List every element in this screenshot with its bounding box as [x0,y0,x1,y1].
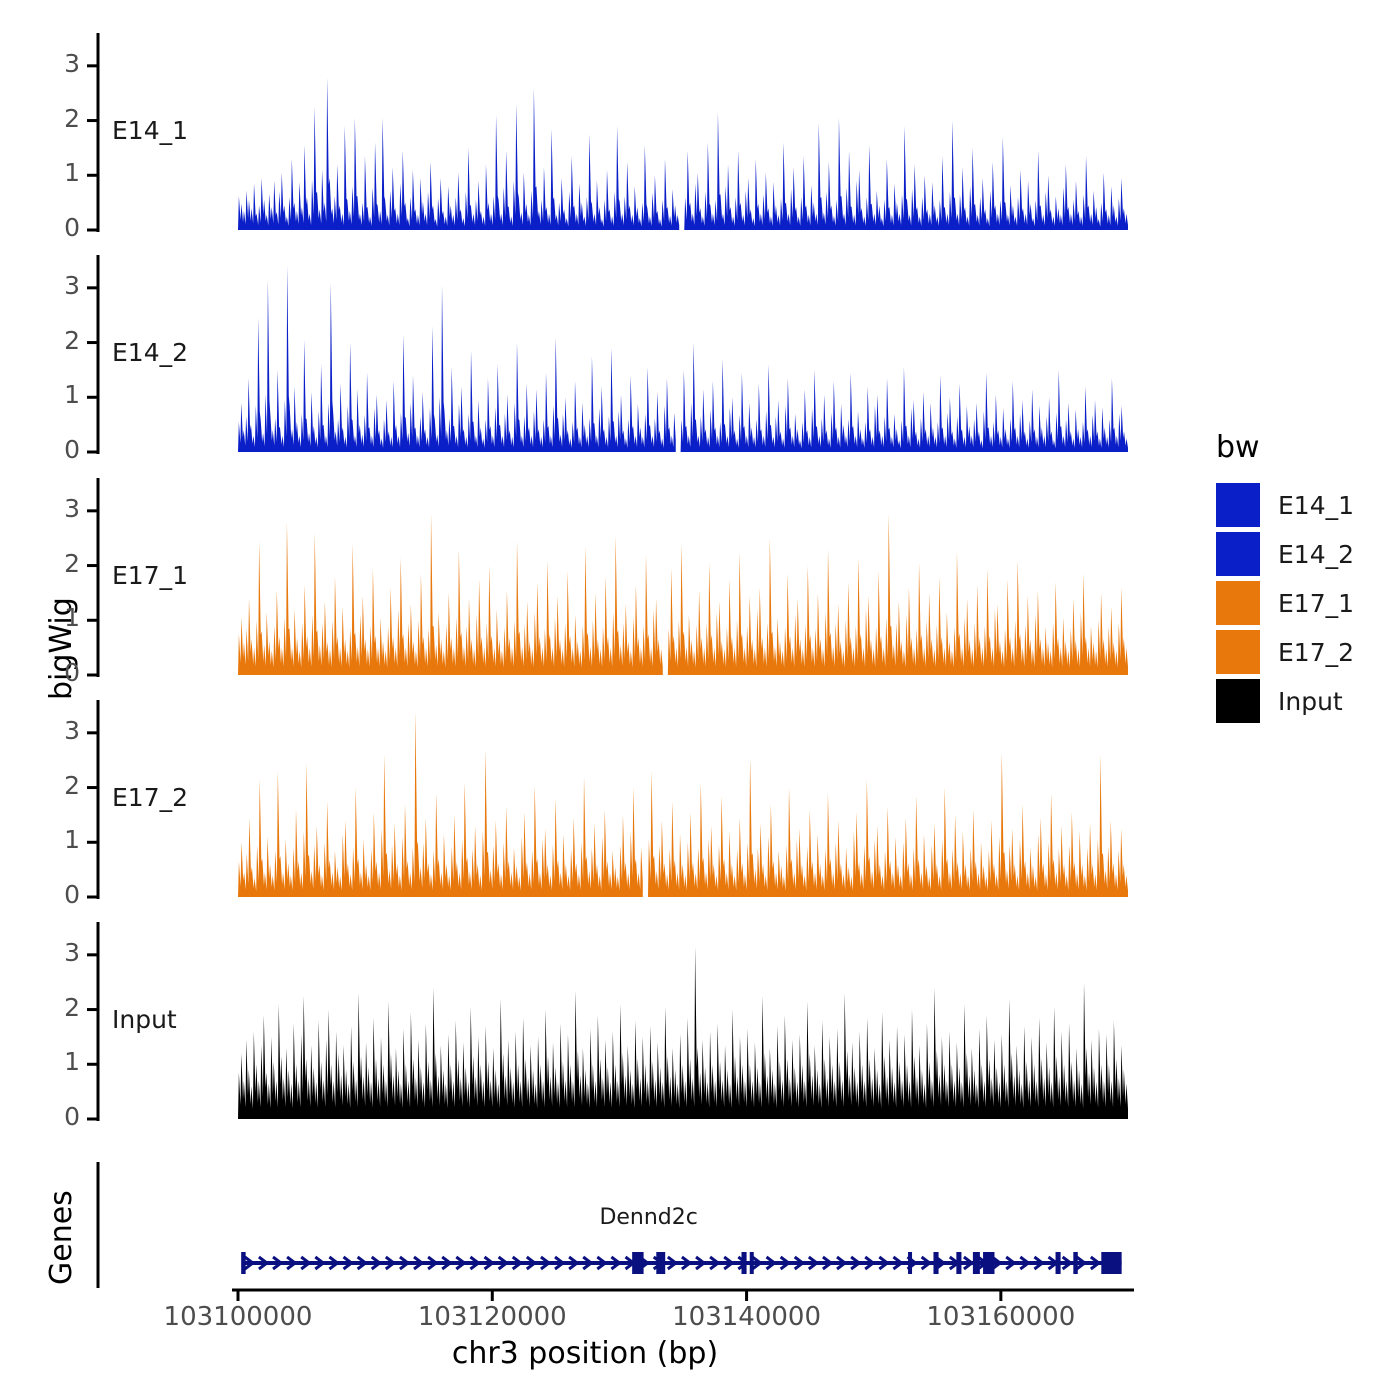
legend-label-Input: Input [1278,687,1343,716]
signal-area [238,78,1128,230]
y-tick-label: 1 [30,603,80,632]
y-tick-label: 2 [30,326,80,355]
gene-name-label: Dennd2c [549,1205,749,1230]
panel-label-E14_2: E14_2 [112,338,188,367]
legend-swatch-E17_1[interactable] [1216,581,1260,625]
panel-label-E17_2: E17_2 [112,783,188,812]
exon-block [983,1252,994,1274]
exon-block [1073,1252,1077,1274]
legend-title: bw [1216,430,1260,465]
legend-swatch-Input[interactable] [1216,679,1260,723]
y-tick-label: 0 [30,1102,80,1131]
legend-label-E14_2: E14_2 [1278,540,1354,569]
y-tick-label: 1 [30,825,80,854]
exon-block [741,1252,746,1274]
exon-block [656,1252,665,1274]
y-tick-label: 1 [30,158,80,187]
y-tick-label: 2 [30,993,80,1022]
exon-block [933,1252,938,1274]
y-tick-label: 3 [30,49,80,78]
panel-label-E14_1: E14_1 [112,116,188,145]
y-tick-label: 2 [30,104,80,133]
y-tick-label: 0 [30,213,80,242]
y-tick-label: 3 [30,494,80,523]
y-tick-label: 1 [30,380,80,409]
y-tick-label: 3 [30,716,80,745]
y-tick-label: 3 [30,938,80,967]
y-tick-label: 0 [30,880,80,909]
x-tick-label: 103120000 [382,1302,602,1332]
y-tick-label: 3 [30,271,80,300]
y-tick-label: 0 [30,435,80,464]
exon-block [632,1252,643,1274]
panel-label-Input: Input [112,1005,177,1034]
y-tick-label: 1 [30,1047,80,1076]
exon-block [956,1252,961,1274]
legend-label-E17_2: E17_2 [1278,638,1354,667]
exon-block [908,1252,912,1274]
x-tick-label: 103140000 [637,1302,857,1332]
legend-swatch-E14_2[interactable] [1216,532,1260,576]
y-tick-label: 0 [30,658,80,687]
signal-area [238,266,1128,452]
panel-label-E17_1: E17_1 [112,561,188,590]
legend-label-E14_1: E14_1 [1278,491,1354,520]
x-tick-label: 103100000 [128,1302,348,1332]
signal-area [238,711,1128,897]
signal-area [238,947,1128,1119]
exon-block [241,1252,245,1274]
exon-block [1101,1252,1121,1274]
y-tick-label: 2 [30,771,80,800]
x-axis-title: chr3 position (bp) [0,1336,1170,1371]
x-tick-label: 103160000 [891,1302,1111,1332]
exon-block [973,1252,980,1274]
signal-area [238,514,1128,675]
exon-block [750,1252,754,1274]
y-tick-label: 2 [30,549,80,578]
exon-block [1056,1252,1061,1274]
legend-swatch-E17_2[interactable] [1216,630,1260,674]
legend-swatch-E14_1[interactable] [1216,483,1260,527]
legend-label-E17_1: E17_1 [1278,589,1354,618]
